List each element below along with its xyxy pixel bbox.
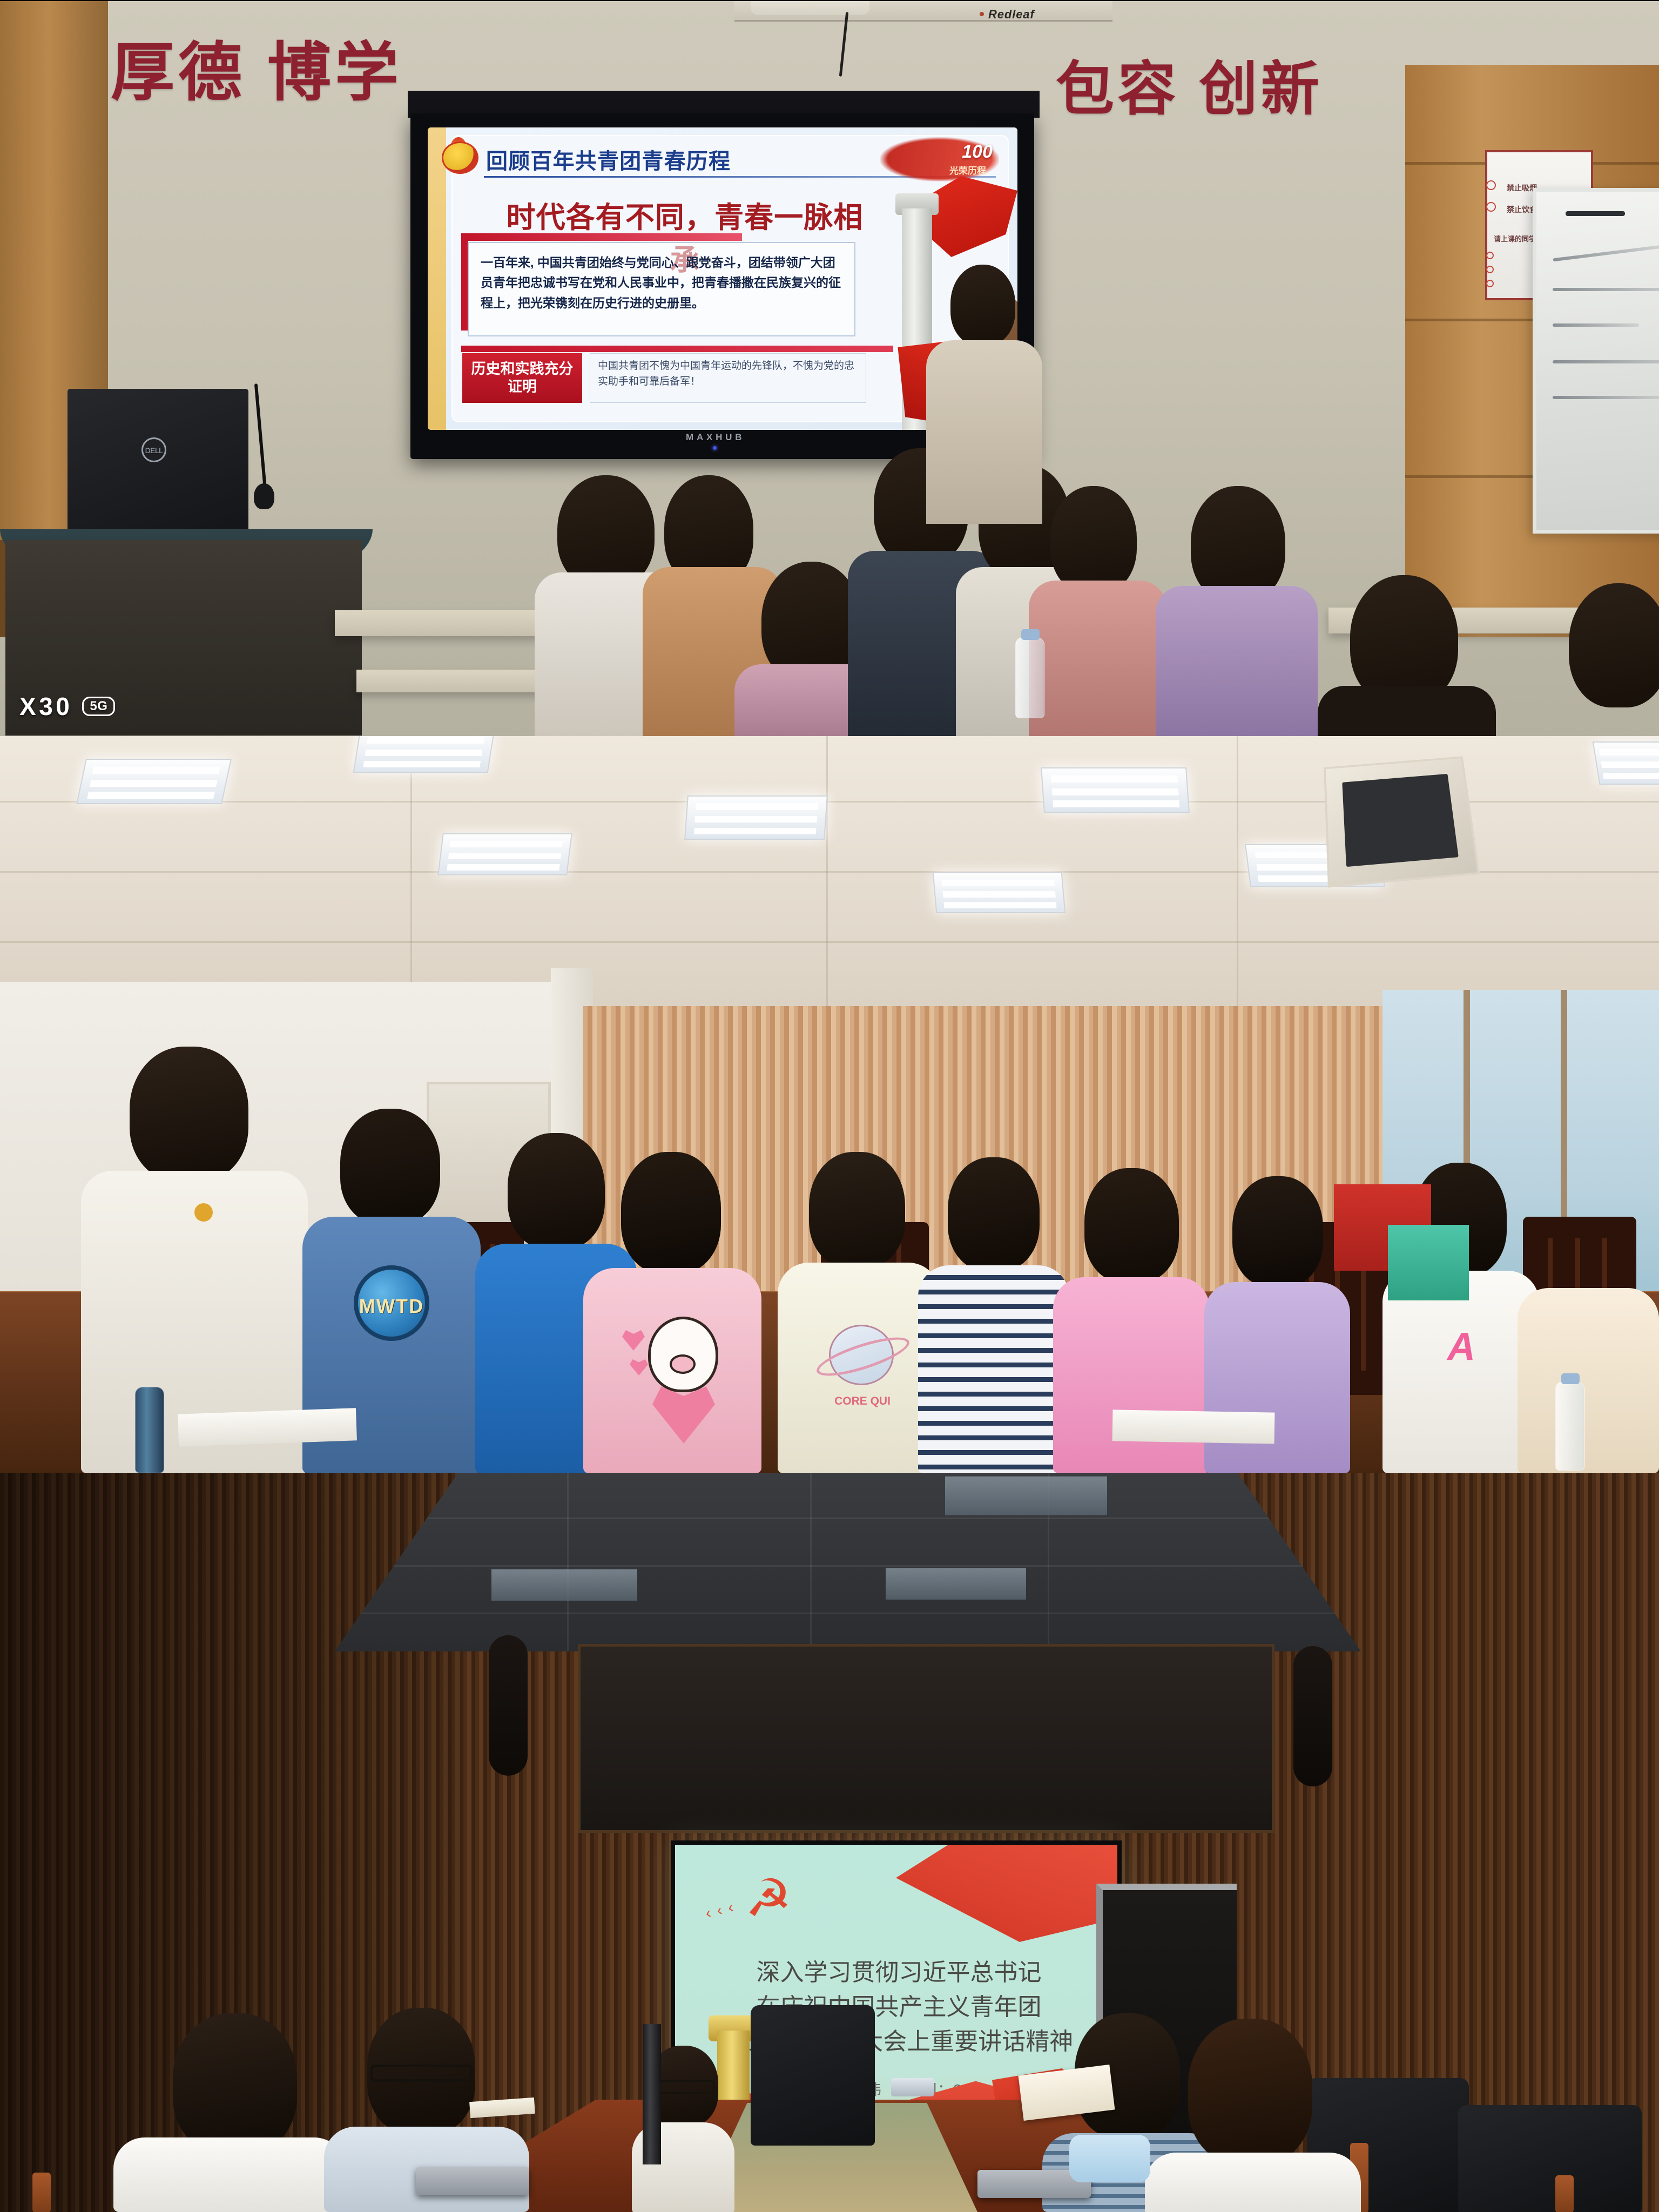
youth-league-emblem-icon [442,137,478,174]
student-head [557,475,655,589]
student-body [1318,686,1496,736]
shirt-graphic-text: A [1447,1325,1475,1369]
watermark-model: X30 [19,692,72,721]
chair-wood-frame [1555,2175,1574,2212]
panel-divider-2 [0,0,1659,1]
birds-icon: ‹‹‹ [704,1897,741,1923]
air-conditioner-vent [1324,756,1480,887]
panel-classroom-lecture: 厚德 博学 包容 创新 Redleaf MAXHUB 回顾百年共青团青春历程 1… [0,0,1659,736]
presenter-body [926,340,1042,524]
slide1-body-text: 一百年来, 中国共青团始终与党同心、跟党奋斗，团结带领广大团员青年把忠诚书写在党… [481,253,842,313]
paper-notebook [1112,1410,1275,1444]
student-head [1569,583,1659,707]
slide1-header: 回顾百年共青团青春历程 [486,144,731,175]
water-bottle [1555,1381,1584,1471]
face-mask [1069,2135,1150,2182]
hammer-sickle-icon: ☭ [745,1873,805,1932]
executive-chair [751,2005,875,2146]
ceiling-light-panel [933,872,1066,913]
ceiling-light-panel [76,759,232,804]
display-brand-label: MAXHUB [686,432,745,443]
wall-slogan-right: 包容 创新 [1056,42,1323,126]
student-head [1050,486,1137,594]
ceiling-light-panel [437,833,572,875]
vacuum-flask [643,2024,661,2164]
microphone-base [254,483,274,509]
attendee-figure [1145,2019,1361,2212]
executive-chair [1458,2105,1642,2212]
slide1-red-band-top [461,233,742,241]
projector-screen-valance [578,1644,1274,1833]
ceiling-light-panel [1593,741,1659,785]
water-bottle [1015,637,1044,718]
ceiling-speaker-left [489,1635,528,1776]
student-head [1350,575,1458,705]
shirt-graphic-text: MWTD [356,1295,427,1318]
wall-slogan-left: 厚德 博学 [111,21,402,113]
metal-grid-ceiling [335,1473,1361,1651]
eyeglasses-icon [370,2065,473,2082]
photo-collage: 厚德 博学 包容 创新 Redleaf MAXHUB 回顾百年共青团青春历程 1… [0,0,1659,2212]
projector-brand-label: Redleaf [988,8,1035,22]
slide1-callout-badge: 历史和实践充分证明 [462,353,582,403]
ceiling-light-panel [1041,767,1190,813]
slide3-red-banner [896,1845,1117,1942]
smartphone [891,2078,934,2096]
student-head [1191,486,1285,602]
slide3-title-line1: 深入学习贯彻习近平总书记 [707,1955,1090,1990]
student-figure [583,1152,761,1473]
student-figure [81,1047,308,1473]
student-body [1029,581,1166,736]
shirt-graphic-text: CORE QUI [827,1395,898,1408]
slide1-body-box: 一百年来, 中国共青团始终与党同心、跟党奋斗，团结带领广大团员青年把忠诚书写在党… [468,242,855,336]
chair-wood-frame [32,2173,51,2212]
laptop [416,2167,529,2195]
ceiling-light-panel [353,736,495,773]
notice-section-title: 请上课的同学 [1494,233,1536,244]
panel-conference-briefing: ☭ ‹‹‹ 深入学习贯彻习近平总书记 在庆祝中国共产主义青年团 成立100周年大… [0,1473,1659,2212]
panel-students-standing: MWTD CORE QUI [0,736,1659,1473]
ceiling-projector [751,0,869,15]
watermark-network: 5G [82,697,115,716]
student-figure [1518,1184,1659,1473]
whiteboard [1533,188,1659,534]
camera-watermark: X30 5G [19,692,115,721]
presenter-head [950,265,1015,346]
student-body [1156,586,1318,736]
student-figure [918,1157,1069,1473]
vacuum-flask [135,1387,164,1473]
dell-logo-icon: DELL [141,437,166,462]
slide1-red-band-bottom [461,346,893,352]
eyeglasses-icon [652,2080,715,2094]
paper-notebook [178,1408,357,1446]
attendee-figure [113,2013,346,2212]
ceiling-light-panel [684,795,828,840]
green-storage-box [1388,1225,1469,1300]
display-power-led-icon [713,446,717,450]
ceiling-speaker-right [1293,1646,1332,1786]
slide1-callout-text: 中国共青团不愧为中国青年运动的先锋队，不愧为党的忠实助手和可靠后备军！ [590,353,866,403]
student-figure: CORE QUI [778,1152,940,1473]
